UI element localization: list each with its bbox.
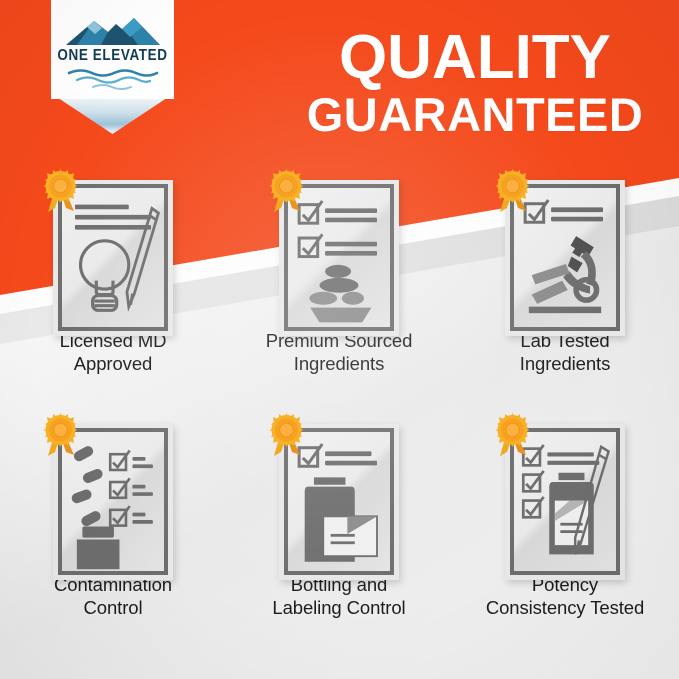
icon-card-holder xyxy=(226,168,452,328)
feature-label-line-2: Control xyxy=(0,597,226,620)
feature-bottling-and-labeling-control: Bottling and Labeling Control xyxy=(226,412,452,619)
icon-card-holder xyxy=(0,168,226,328)
feature-contamination-control: Contamination Control xyxy=(0,412,226,619)
feature-label: Potency Consistency Tested xyxy=(452,574,678,619)
feature-label: Licensed MD Approved xyxy=(0,330,226,375)
feature-label: Contamination Control xyxy=(0,574,226,619)
quality-guaranteed-banner: ONE ELEVATED QUALITY GUARANTEED xyxy=(0,0,679,679)
feature-label-line-2: Approved xyxy=(0,353,226,376)
icon-card-holder xyxy=(452,168,678,328)
feature-label-line-2: Ingredients xyxy=(226,353,452,376)
award-rosette-icon xyxy=(493,412,533,458)
feature-grid: Licensed MD Approved xyxy=(0,0,679,679)
icon-card-holder xyxy=(452,412,678,572)
feature-label: Premium Sourced Ingredients xyxy=(226,330,452,375)
feature-potency-consistency-tested: Potency Consistency Tested xyxy=(452,412,678,619)
icon-card-holder xyxy=(226,412,452,572)
feature-label-line-2: Consistency Tested xyxy=(452,597,678,620)
feature-label-line-2: Labeling Control xyxy=(226,597,452,620)
award-rosette-icon xyxy=(493,168,533,214)
award-rosette-icon xyxy=(41,412,81,458)
award-rosette-icon xyxy=(267,168,307,214)
feature-label: Bottling and Labeling Control xyxy=(226,574,452,619)
award-rosette-icon xyxy=(267,412,307,458)
feature-licensed-md-approved: Licensed MD Approved xyxy=(0,168,226,375)
icon-card-holder xyxy=(0,412,226,572)
bottle xyxy=(77,527,120,570)
award-rosette-icon xyxy=(41,168,81,214)
feature-label-line-2: Ingredients xyxy=(452,353,678,376)
peeling-label xyxy=(323,516,377,556)
feature-premium-sourced-ingredients: Premium Sourced Ingredients xyxy=(226,168,452,375)
feature-label: Lab Tested Ingredients xyxy=(452,330,678,375)
feature-lab-tested-ingredients: Lab Tested Ingredients xyxy=(452,168,678,375)
